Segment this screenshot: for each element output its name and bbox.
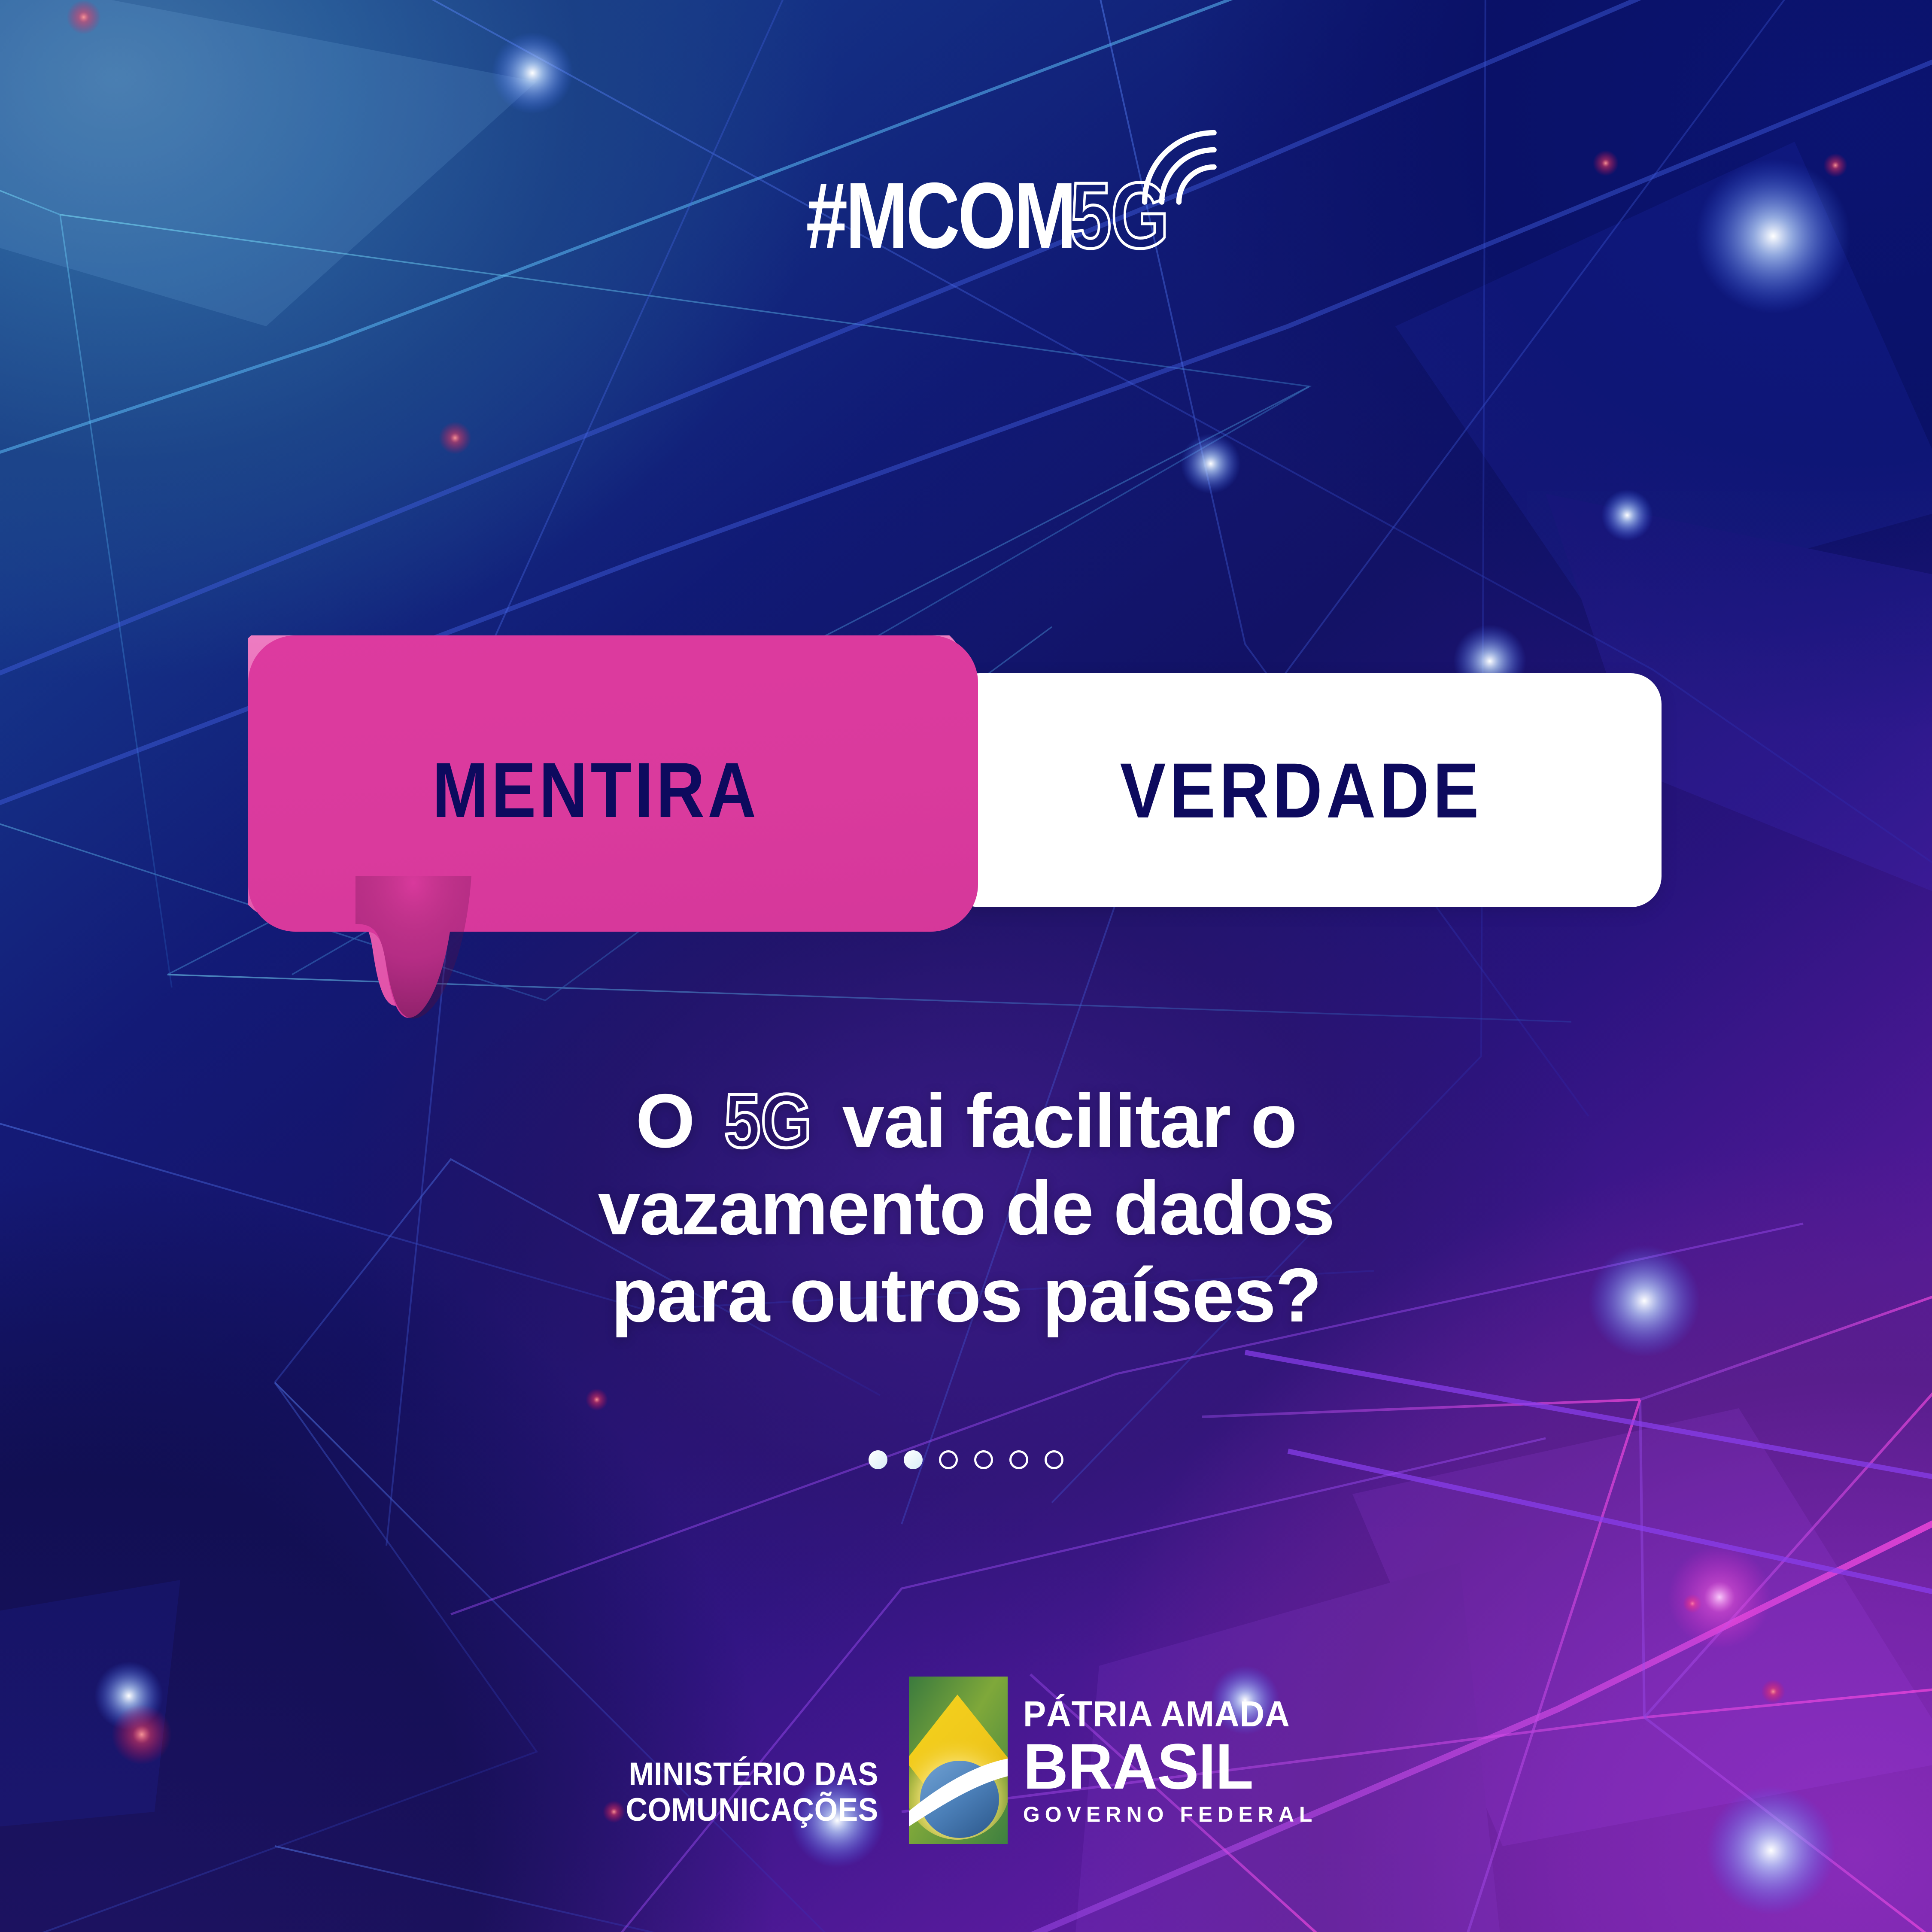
verdade-label: VERDADE	[1120, 751, 1483, 829]
verdade-bubble[interactable]: VERDADE	[949, 673, 1662, 907]
wifi-signal-icon	[1137, 125, 1219, 207]
headline-line1-rest: vai facilitar o	[842, 1078, 1296, 1163]
pagination-dot[interactable]	[869, 1450, 887, 1469]
headline-line-1: O 5G vai facilitar o	[0, 1078, 1932, 1165]
patria-amada-text: PÁTRIA AMADA	[1023, 1696, 1303, 1732]
logo-mcom-wordmark: #MCOM	[806, 179, 1074, 253]
ministry-line-1: MINISTÉRIO DAS	[626, 1757, 878, 1792]
pagination-dot[interactable]	[904, 1450, 923, 1469]
social-post-canvas: #MCOM 5G VERDADE	[0, 0, 1932, 1932]
brasil-text: BRASIL	[1023, 1734, 1309, 1799]
governo-federal-text: GOVERNO FEDERAL	[1023, 1804, 1318, 1825]
pagination-dot[interactable]	[1045, 1450, 1063, 1469]
carousel-pagination[interactable]	[0, 1450, 1932, 1469]
brasil-flag-emblem-icon	[909, 1677, 1008, 1844]
question-headline: O 5G vai facilitar o vazamento de dados …	[0, 1078, 1932, 1339]
headline-line-2: vazamento de dados	[0, 1165, 1932, 1252]
ministry-logo: MINISTÉRIO DAS COMUNICAÇÕES	[626, 1692, 878, 1828]
pagination-dot[interactable]	[939, 1450, 958, 1469]
headline-word-o: O	[635, 1078, 694, 1163]
headline-line-3: para outros países?	[0, 1252, 1932, 1339]
truth-vs-lie-banner: VERDADE	[0, 635, 1932, 1030]
mcom-5g-logo: #MCOM 5G	[0, 142, 1932, 253]
pagination-dot[interactable]	[974, 1450, 993, 1469]
footer-logos: MINISTÉRIO DAS COMUNICAÇÕES	[0, 1677, 1932, 1844]
mentira-bubble[interactable]: MENTIRA	[248, 635, 978, 1030]
ministry-line-2: COMUNICAÇÕES	[626, 1792, 878, 1828]
pagination-dot[interactable]	[1009, 1450, 1028, 1469]
headline-5g-outline: 5G	[724, 1078, 812, 1165]
patria-amada-brasil-logo: PÁTRIA AMADA BRASIL GOVERNO FEDERAL	[1023, 1696, 1318, 1825]
